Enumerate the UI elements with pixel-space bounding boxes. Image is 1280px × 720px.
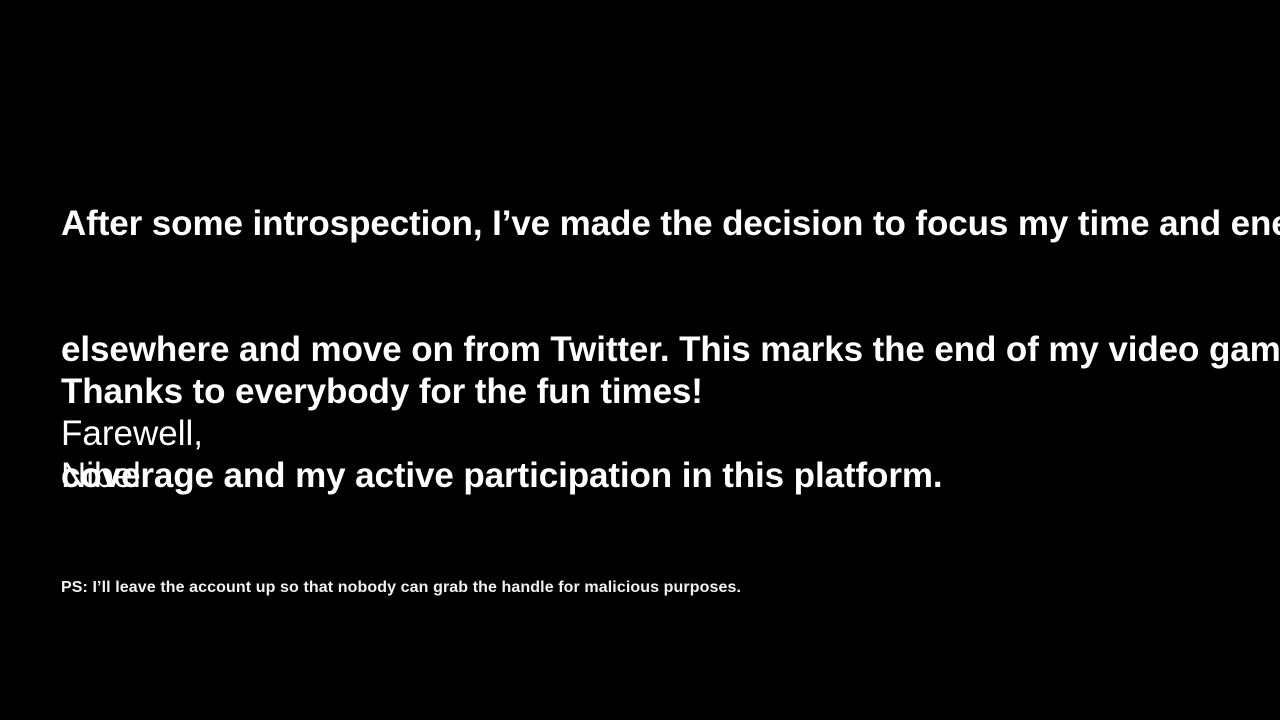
signature-name: Nibel [61,455,203,497]
paragraph-intro-line-1: After some introspection, I’ve made the … [61,203,1280,245]
signature-block: Farewell, Nibel [61,413,203,497]
paragraph-thanks-line-1: Thanks to everybody for the fun times! [61,371,703,413]
postscript-line: PS: I’ll leave the account up so that no… [61,578,741,598]
signature-closing: Farewell, [61,413,203,455]
screenshot-canvas: After some introspection, I’ve made the … [0,0,1280,720]
